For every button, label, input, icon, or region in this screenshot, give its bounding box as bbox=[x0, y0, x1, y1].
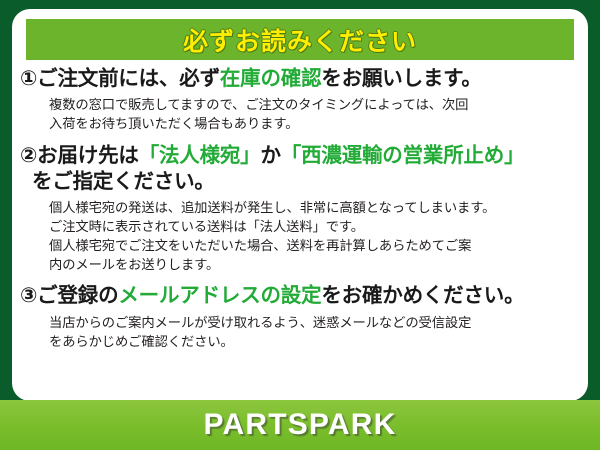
notice-item-1: ①ご注文前には、必ず在庫の確認をお願いします。 複数の窓口で販売してますので、ご… bbox=[20, 66, 580, 133]
notice-item-2-heading-highlight: 「法人様宛」 bbox=[139, 144, 261, 167]
footer-brand-bar: PARTSPARK bbox=[0, 400, 600, 450]
notice-item-2-marker: ② bbox=[20, 144, 37, 167]
notice-item-2-heading-pre: お届け先は bbox=[37, 144, 139, 167]
notice-item-2-heading-highlight2: 「西濃運輸の営業所止め」 bbox=[281, 144, 525, 167]
notice-item-1-body-line-1: 複数の窓口で販売してますので、ご注文のタイミングによっては、次回 bbox=[49, 95, 580, 114]
notice-item-1-marker: ① bbox=[20, 67, 37, 90]
notice-item-2-body: 個人様宅宛の発送は、追加送料が発生し、非常に高額となってしまいます。 ご注文時に… bbox=[20, 195, 580, 275]
notice-item-2-heading-line2: をご指定ください。 bbox=[20, 169, 580, 195]
notice-item-2-heading-mid: か bbox=[260, 144, 280, 167]
notice-item-3-body-line-1: 当店からのご案内メールが受け取れるよう、迷惑メールなどの受信設定 bbox=[49, 313, 580, 332]
notice-item-3-body-line-2: をあらかじめご確認ください。 bbox=[49, 332, 580, 351]
notice-item-3-heading-post: をお確かめください。 bbox=[321, 284, 524, 307]
notice-item-2-heading: ②お届け先は「法人様宛」か「西濃運輸の営業所止め」をご指定ください。 bbox=[20, 143, 580, 195]
header-bar: 必ずお読みください bbox=[26, 19, 574, 60]
content-panel: 必ずお読みください ①ご注文前には、必ず在庫の確認をお願いします。 複数の窓口で… bbox=[12, 9, 588, 401]
notice-item-2-body-line-2: ご注文時に表示されている送料は「法人送料」です。 bbox=[49, 217, 580, 236]
notice-banner: 必ずお読みください ①ご注文前には、必ず在庫の確認をお願いします。 複数の窓口で… bbox=[0, 0, 600, 450]
notice-item-1-heading-highlight: 在庫の確認 bbox=[220, 67, 322, 90]
header-title: 必ずお読みください bbox=[183, 22, 417, 58]
notice-items: ①ご注文前には、必ず在庫の確認をお願いします。 複数の窓口で販売してますので、ご… bbox=[12, 66, 588, 358]
notice-item-2-body-line-3: 個人様宅宛でご注文をいただいた場合、送料を再計算しあらためてご案 bbox=[49, 236, 580, 255]
notice-item-2-body-line-1: 個人様宅宛の発送は、追加送料が発生し、非常に高額となってしまいます。 bbox=[49, 198, 580, 217]
notice-item-1-body: 複数の窓口で販売してますので、ご注文のタイミングによっては、次回 入荷をお待ち頂… bbox=[20, 92, 580, 133]
notice-item-3-heading-highlight: メールアドレスの設定 bbox=[118, 284, 321, 307]
notice-item-3-heading: ③ご登録のメールアドレスの設定をお確かめください。 bbox=[20, 283, 580, 309]
notice-item-3-heading-pre: ご登録の bbox=[37, 284, 118, 307]
notice-item-1-heading-post: をお願いします。 bbox=[321, 67, 481, 90]
notice-item-1-heading: ①ご注文前には、必ず在庫の確認をお願いします。 bbox=[20, 66, 580, 92]
notice-item-1-body-line-2: 入荷をお待ち頂いただく場合もあります。 bbox=[49, 114, 580, 133]
notice-item-1-heading-pre: ご注文前には、必ず bbox=[37, 67, 220, 90]
notice-item-3-marker: ③ bbox=[20, 284, 37, 307]
brand-name: PARTSPARK bbox=[203, 408, 396, 442]
notice-item-2-body-line-4: 内のメールをお送りします。 bbox=[49, 255, 580, 274]
notice-item-2: ②お届け先は「法人様宛」か「西濃運輸の営業所止め」をご指定ください。 個人様宅宛… bbox=[20, 143, 580, 274]
notice-item-3: ③ご登録のメールアドレスの設定をお確かめください。 当店からのご案内メールが受け… bbox=[20, 283, 580, 351]
notice-item-3-body: 当店からのご案内メールが受け取れるよう、迷惑メールなどの受信設定 をあらかじめご… bbox=[20, 309, 580, 351]
